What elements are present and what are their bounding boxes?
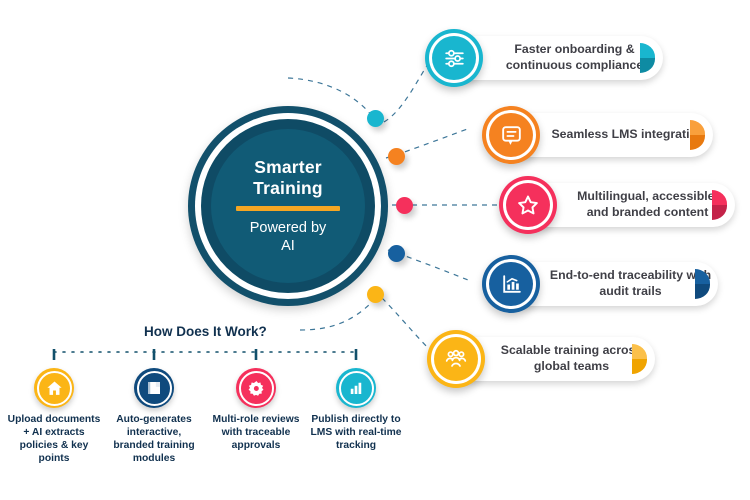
bar-chart-icon: [347, 379, 365, 397]
home-icon: [45, 379, 64, 398]
benefit-badge-core-4: [489, 262, 533, 306]
process-step-icon-core-3: [239, 371, 274, 406]
benefit-badge-core-3: [506, 183, 550, 227]
process-step-icon-4: [336, 368, 376, 408]
benefit-badge-3[interactable]: [499, 176, 557, 234]
star-icon: [515, 192, 541, 218]
process-step-icon-3: [236, 368, 276, 408]
hub-title-line2: Training: [253, 178, 323, 198]
hub-subtitle-line2: AI: [281, 238, 295, 254]
process-step-icon-core-1: [37, 371, 72, 406]
benefit-badge-ring-3: [503, 180, 553, 230]
hub-ring-white: Smarter Training Powered by AI: [195, 113, 381, 299]
process-heading: How Does It Work?: [144, 324, 267, 339]
process-step-label-1: Upload documents + AI extracts policies …: [6, 414, 102, 466]
hub-divider: [236, 206, 340, 211]
process-step-1[interactable]: Upload documents + AI extracts policies …: [6, 368, 102, 466]
benefit-badge-core-1: [432, 36, 476, 80]
book-icon: [145, 379, 163, 397]
connector-dot-2: [388, 148, 405, 165]
gear-icon: [247, 379, 266, 398]
process-step-4[interactable]: Publish directly to LMS with real-time t…: [308, 368, 404, 453]
benefit-badge-ring-5: [431, 334, 481, 384]
central-hub: Smarter Training Powered by AI: [188, 106, 388, 306]
process-tick-line: [50, 348, 360, 362]
process-step-label-2: Auto-generates interactive, branded trai…: [106, 414, 202, 466]
connector-dot-4: [388, 245, 405, 262]
process-step-icon-2: [134, 368, 174, 408]
hub-subtitle-line1: Powered by: [250, 220, 327, 236]
sliders-icon: [442, 46, 467, 71]
hub-ring-dark: Smarter Training Powered by AI: [201, 119, 375, 293]
connector-dot-3: [396, 197, 413, 214]
benefit-badge-ring-2: [486, 110, 536, 160]
benefit-badge-2[interactable]: [482, 106, 540, 164]
hub-title: Smarter Training: [253, 157, 323, 198]
benefit-badge-4[interactable]: [482, 255, 540, 313]
hub-subtitle: Powered by AI: [250, 220, 327, 255]
process-step-label-3: Multi-role reviews with traceable approv…: [208, 414, 304, 453]
hub-inner-circle: Smarter Training Powered by AI: [211, 129, 365, 283]
infographic-canvas: Smarter Training Powered by AI Faster on…: [0, 0, 750, 500]
hub-title-line1: Smarter: [254, 157, 322, 177]
process-step-icon-core-2: [137, 371, 172, 406]
benefit-badge-5[interactable]: [427, 330, 485, 388]
process-step-icon-1: [34, 368, 74, 408]
process-step-2[interactable]: Auto-generates interactive, branded trai…: [106, 368, 202, 466]
benefit-badge-core-5: [434, 337, 478, 381]
process-step-3[interactable]: Multi-role reviews with traceable approv…: [208, 368, 304, 453]
process-step-icon-core-4: [339, 371, 374, 406]
people-icon: [443, 346, 469, 372]
chart-icon: [499, 272, 524, 297]
connector-dot-5: [367, 286, 384, 303]
benefit-accent-2: [690, 120, 705, 150]
benefit-badge-core-2: [489, 113, 533, 157]
benefit-badge-1[interactable]: [425, 29, 483, 87]
benefit-badge-ring-1: [429, 33, 479, 83]
process-step-label-4: Publish directly to LMS with real-time t…: [308, 414, 404, 453]
message-icon: [499, 123, 524, 148]
connector-dot-1: [367, 110, 384, 127]
benefit-badge-ring-4: [486, 259, 536, 309]
